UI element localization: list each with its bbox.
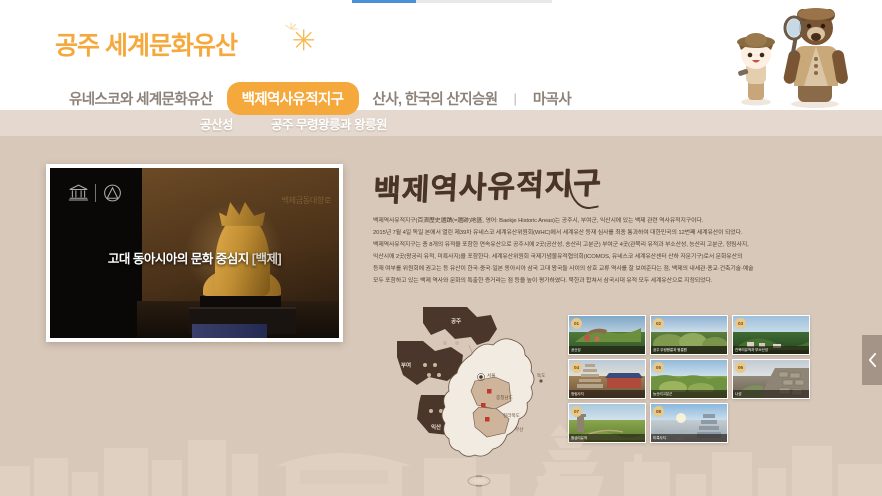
mascot-girl	[737, 33, 775, 106]
site-logo[interactable]: 공주 세계문화유산	[55, 26, 237, 62]
gallery-item-04[interactable]: 04 정림사지	[568, 359, 646, 399]
unesco-watermark	[68, 180, 124, 206]
video-caption-main: 고대 동아시아의 문화 중심지	[108, 252, 249, 266]
heritage-photo-gallery[interactable]: 01 공산성 02 공주 무령왕릉과 왕릉원 03 관북리유적과 부소산성	[568, 315, 810, 443]
main-navigation[interactable]: 유네스코와 세계문화유산 백제역사유적지구 산사, 한국의 산지승원 | 마곡사	[55, 82, 585, 115]
feature-video-player[interactable]: 백제금동대향로 고대 동아시아의 문화 중심지 [백제]	[46, 164, 343, 342]
browser-progress-bar	[352, 0, 552, 3]
heritage-location-map[interactable]: 공주 부여 익산 서울 충청남도 전라북도 부산 독도	[395, 303, 580, 496]
article-line-1: 백제역사유적지구(百濟歷史遺蹟(=遺跡)地區, 영어: Baekje Histo…	[373, 215, 788, 227]
subnav-item-royal-tombs[interactable]: 공주 무령왕릉과 왕릉원	[271, 114, 387, 133]
gallery-number: 06	[735, 362, 746, 373]
content-stage: 공산성 공주 무령왕릉과 왕릉원	[0, 110, 882, 496]
progress-fill	[352, 0, 416, 3]
chevron-left-icon	[867, 352, 878, 368]
gallery-item-02[interactable]: 02 공주 무령왕릉과 왕릉원	[650, 315, 728, 355]
mascot-bear	[783, 8, 849, 108]
gallery-item-05[interactable]: 05 능산리고분군	[650, 359, 728, 399]
nav-separator: |	[511, 91, 518, 106]
video-caption: 고대 동아시아의 문화 중심지 [백제]	[50, 248, 339, 267]
photo-tumuli-art	[651, 324, 728, 346]
gallery-item-08[interactable]: 08 미륵사지	[650, 403, 728, 443]
gallery-caption: 나성	[733, 390, 809, 398]
photo-fortress-art	[575, 322, 641, 342]
map-label-jeonbuk: 전라북도	[503, 413, 520, 419]
gallery-number: 01	[571, 318, 582, 329]
article-line-4: 익산시에 2곳(왕궁리 유적, 미륵사지)을 포함한다. 세계유산위원회 국제기…	[373, 251, 788, 263]
video-info-placard	[192, 324, 267, 338]
gallery-number: 08	[653, 406, 664, 417]
sparkle-icon	[283, 20, 319, 56]
article-line-2: 2015년 7월 4일 독일 본에서 열린 제39차 유네스코 세계유산위원회(…	[373, 227, 788, 239]
gallery-caption: 미륵사지	[651, 434, 727, 442]
article-body: 백제역사유적지구(百濟歷史遺蹟(=遺跡)地區, 영어: Baekje Histo…	[373, 215, 788, 288]
gallery-caption: 정림사지	[569, 390, 645, 398]
nav-item-sansa[interactable]: 산사, 한국의 산지승원	[359, 82, 512, 115]
photo-pagoda-art	[573, 362, 643, 392]
gallery-number: 05	[653, 362, 664, 373]
map-label-chungnam: 충청남도	[496, 395, 513, 401]
nav-item-unesco[interactable]: 유네스코와 세계문화유산	[55, 82, 227, 115]
nav-item-magoksa[interactable]: 마곡사	[519, 82, 585, 115]
gallery-number: 04	[571, 362, 582, 373]
video-caption-tag: [백제]	[252, 252, 281, 266]
gallery-caption: 관북리유적과 부소산성	[733, 346, 809, 354]
mascot-characters	[722, 2, 872, 108]
calligraphy-brush-stroke	[567, 174, 599, 212]
gallery-number: 07	[571, 406, 582, 417]
gallery-item-06[interactable]: 06 나성	[732, 359, 810, 399]
gallery-item-01[interactable]: 01 공산성	[568, 315, 646, 355]
gallery-item-07[interactable]: 07 왕궁리유적	[568, 403, 646, 443]
gallery-caption: 공주 무령왕릉과 왕릉원	[651, 346, 727, 354]
carousel-prev-button[interactable]	[862, 335, 882, 385]
gallery-caption: 왕궁리유적	[569, 434, 645, 442]
gallery-number: 02	[653, 318, 664, 329]
gallery-number: 03	[735, 318, 746, 329]
map-label-gongju: 공주	[451, 317, 461, 325]
map-label-buyeo: 부여	[401, 361, 411, 369]
article-line-6: 모두 포함하고 있는 백제 역사와 문화의 특출한 증거라는 점 등을 높이 평…	[373, 275, 788, 287]
map-label-busan: 부산	[515, 427, 523, 433]
unesco-temple-icon	[68, 182, 89, 204]
site-header: 공주 세계문화유산	[0, 0, 882, 110]
article-line-5: 등재 여부를 위원회에 권고는 등 유산이 한국·중국·일본 동아시아 삼국 고…	[373, 263, 788, 275]
gallery-caption: 공산성	[569, 346, 645, 354]
subnav-item-gongsanseong[interactable]: 공산성	[200, 114, 233, 133]
watermark-divider	[95, 184, 96, 202]
map-label-dokdo: 독도	[537, 373, 545, 379]
video-overlay-right-text: 백제금동대향로	[282, 195, 331, 206]
video-pedestal-top	[200, 296, 281, 308]
map-region-gongju	[423, 307, 497, 345]
gallery-caption: 능산리고분군	[651, 390, 727, 398]
nav-item-baekje-active[interactable]: 백제역사유적지구	[227, 82, 359, 115]
gallery-item-03[interactable]: 03 관북리유적과 부소산성	[732, 315, 810, 355]
article-line-3: 백제역사유적지구는 총 8개의 유적을 포함한 연속유산으로 공주시에 2곳(공…	[373, 239, 788, 251]
map-label-seoul: 서울	[487, 373, 495, 379]
heritage-circle-icon	[102, 182, 123, 204]
photo-mounds-art	[651, 370, 728, 392]
map-label-iksan: 익산	[431, 423, 441, 431]
